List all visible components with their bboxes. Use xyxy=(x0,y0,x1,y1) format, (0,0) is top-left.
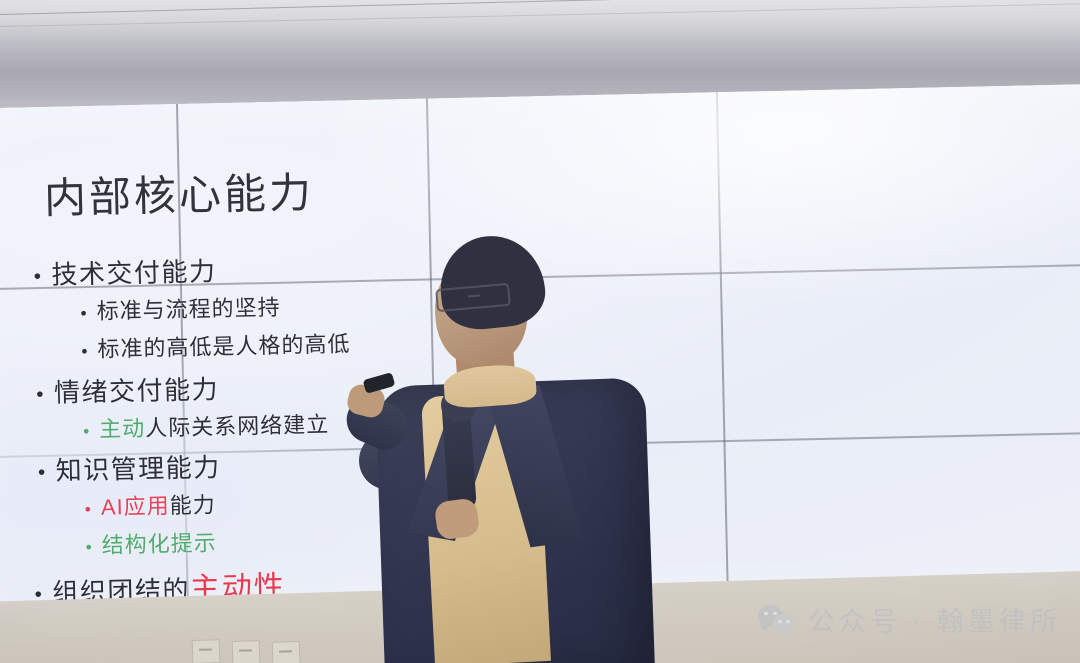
bullet-marker: • xyxy=(36,383,45,407)
bullet-marker: • xyxy=(85,499,93,520)
bullet-text-highlight: AI应用 xyxy=(101,493,170,519)
bullet-marker: • xyxy=(38,461,47,485)
wechat-dot xyxy=(778,620,782,624)
watermark-text: 公众号 · 翰墨律所 xyxy=(808,600,1061,639)
speaker xyxy=(340,214,670,663)
bullet-marker: • xyxy=(81,341,89,362)
slide-title: 内部核心能力 xyxy=(43,159,314,226)
wechat-dot xyxy=(773,612,777,616)
bullet-line-6: •知识管理能力 xyxy=(38,447,222,488)
bullet-line-5: •主动人际关系网络建立 xyxy=(83,407,330,444)
bullet-text: 人际关系网络建立 xyxy=(145,412,330,441)
watermark: 公众号 · 翰墨律所 xyxy=(758,600,1061,639)
wechat-dot xyxy=(764,612,768,616)
wall-outlet xyxy=(192,639,221,663)
presentation-photo: 内部核心能力 •技术交付能力 •标准与流程的坚持 •标准的高低是人格的高低 •情… xyxy=(0,0,1080,663)
bullet-marker: • xyxy=(33,265,42,289)
bullet-text: 标准与流程的坚持 xyxy=(96,295,281,324)
bullet-text: 情绪交付能力 xyxy=(54,374,220,408)
wechat-dot xyxy=(786,620,790,624)
bullet-line-8: •结构化提示 xyxy=(85,525,217,560)
bullet-line-3: •标准的高低是人格的高低 xyxy=(81,326,351,364)
speaker-hair xyxy=(435,231,548,333)
bullet-line-7: •AI应用能力 xyxy=(84,487,216,522)
bullet-text: 技术交付能力 xyxy=(51,256,217,290)
bullet-line-4: •情绪交付能力 xyxy=(36,369,220,410)
bullet-line-2: •标准与流程的坚持 xyxy=(80,290,281,326)
wechat-icon xyxy=(758,605,796,635)
wall-outlet xyxy=(232,640,261,663)
ceiling-seam-secondary xyxy=(0,3,1080,27)
bullet-marker: • xyxy=(80,303,88,324)
bullet-line-1: •技术交付能力 xyxy=(33,251,217,292)
bullet-text: 能力 xyxy=(169,492,216,518)
bullet-marker: • xyxy=(85,537,93,558)
wall-outlet xyxy=(272,641,301,663)
bullet-marker: • xyxy=(83,421,91,442)
bullet-text-highlight: 主动 xyxy=(99,416,146,442)
bullet-text: 知识管理能力 xyxy=(55,452,221,486)
bullet-text: 标准的高低是人格的高低 xyxy=(97,331,351,362)
wechat-bubble-small xyxy=(772,614,794,633)
bullet-text-highlight: 结构化提示 xyxy=(101,530,217,558)
